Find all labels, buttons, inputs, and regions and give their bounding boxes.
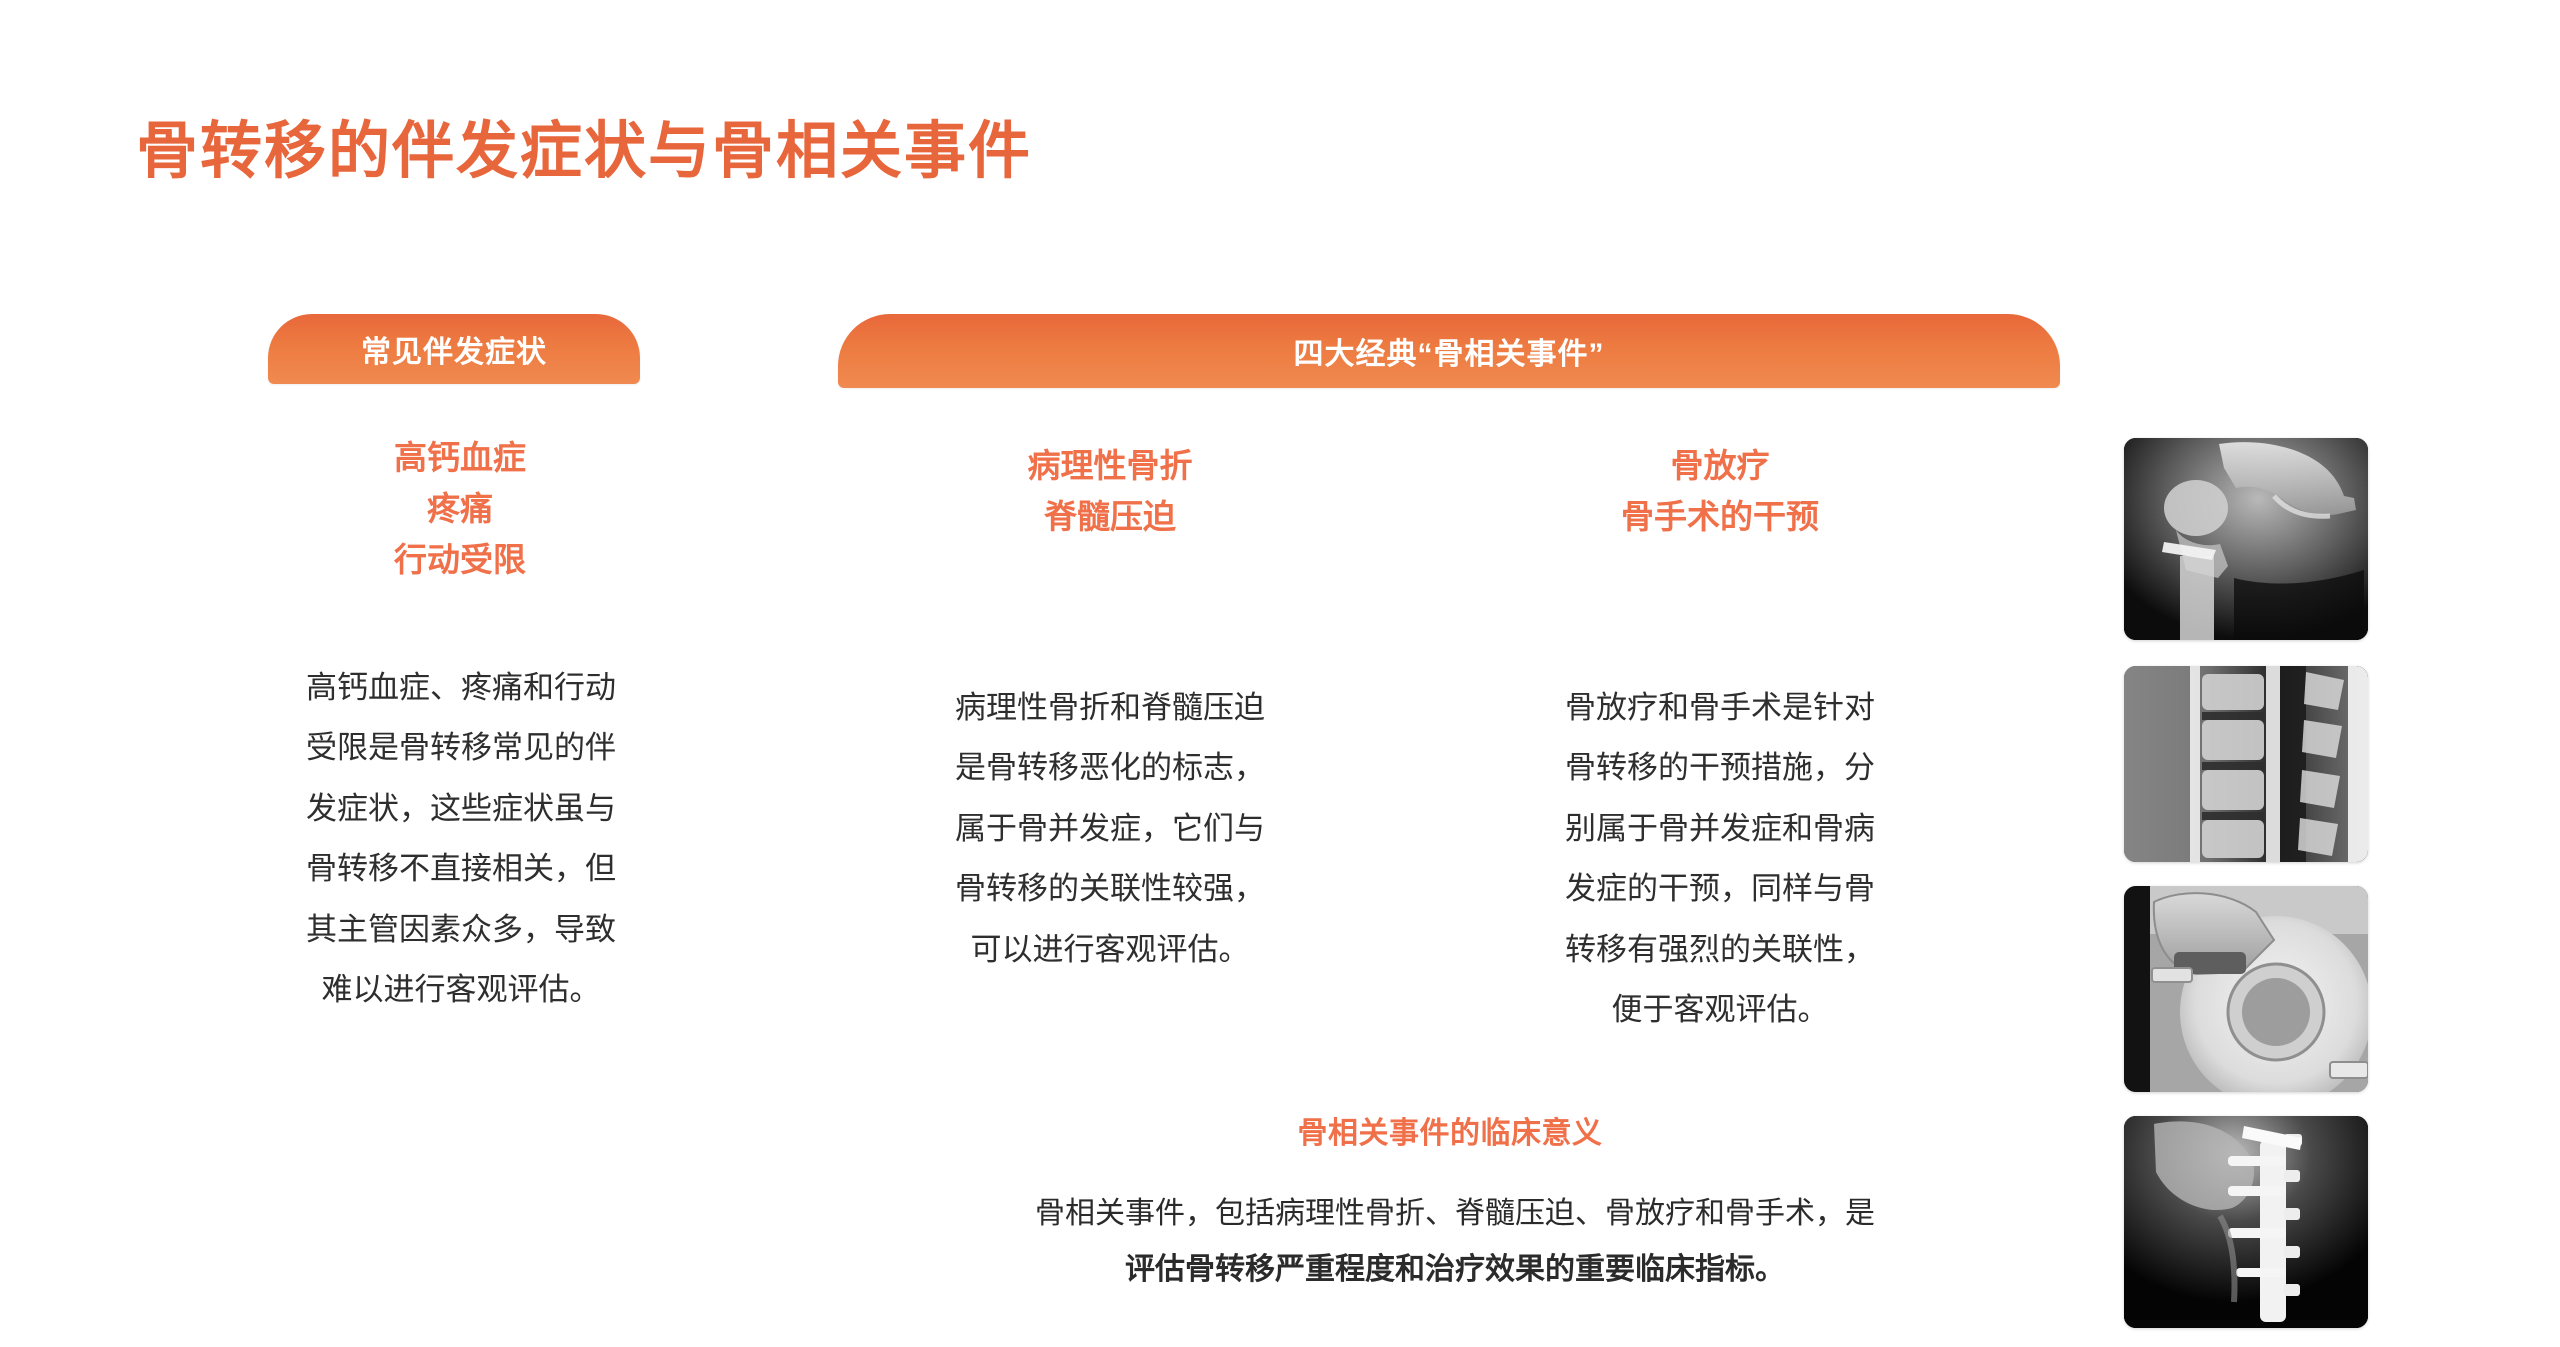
column-3-body: 骨放疗和骨手术是针对 骨转移的干预措施，分 别属于骨并发症和骨病 发症的干预，同… [1450, 678, 1990, 1041]
bone-plate-xray-icon [2124, 1116, 2368, 1328]
linac-machine-icon [2124, 886, 2368, 1092]
banner-common-symptoms: 常见伴发症状 [268, 314, 640, 384]
spine-mri-cord-compression-image [2124, 666, 2368, 862]
clinical-significance-line-1: 骨相关事件，包括病理性骨折、脊髓压迫、骨放疗和骨手术，是 [860, 1186, 2050, 1242]
clinical-significance-text: 骨相关事件，包括病理性骨折、脊髓压迫、骨放疗和骨手术，是 评估骨转移严重程度和治… [860, 1186, 2050, 1297]
column-2-body: 病理性骨折和脊髓压迫 是骨转移恶化的标志， 属于骨并发症，它们与 骨转移的关联性… [840, 678, 1380, 980]
radiotherapy-linac-machine-image [2124, 886, 2368, 1092]
hip-xray-pathological-fracture-image [2124, 438, 2368, 640]
column-3-heading: 骨放疗 骨手术的干预 [1440, 440, 2000, 542]
clinical-significance-line-2: 评估骨转移严重程度和治疗效果的重要临床指标。 [860, 1242, 2050, 1298]
column-2-heading: 病理性骨折 脊髓压迫 [830, 440, 1390, 542]
hip-xray-icon [2124, 438, 2368, 640]
clinical-significance-heading: 骨相关事件的临床意义 [840, 1108, 2060, 1152]
page-title: 骨转移的伴发症状与骨相关事件 [136, 118, 1032, 186]
column-1-body: 高钙血症、疼痛和行动 受限是骨转移常见的伴 发症状，这些症状虽与 骨转移不直接相… [216, 658, 706, 1021]
banner-skeletal-related-events: 四大经典“骨相关事件” [838, 314, 2060, 388]
bone-surgery-plate-xray-image [2124, 1116, 2368, 1328]
spine-mri-icon [2124, 666, 2368, 862]
column-1-heading: 高钙血症 疼痛 行动受限 [210, 432, 710, 585]
